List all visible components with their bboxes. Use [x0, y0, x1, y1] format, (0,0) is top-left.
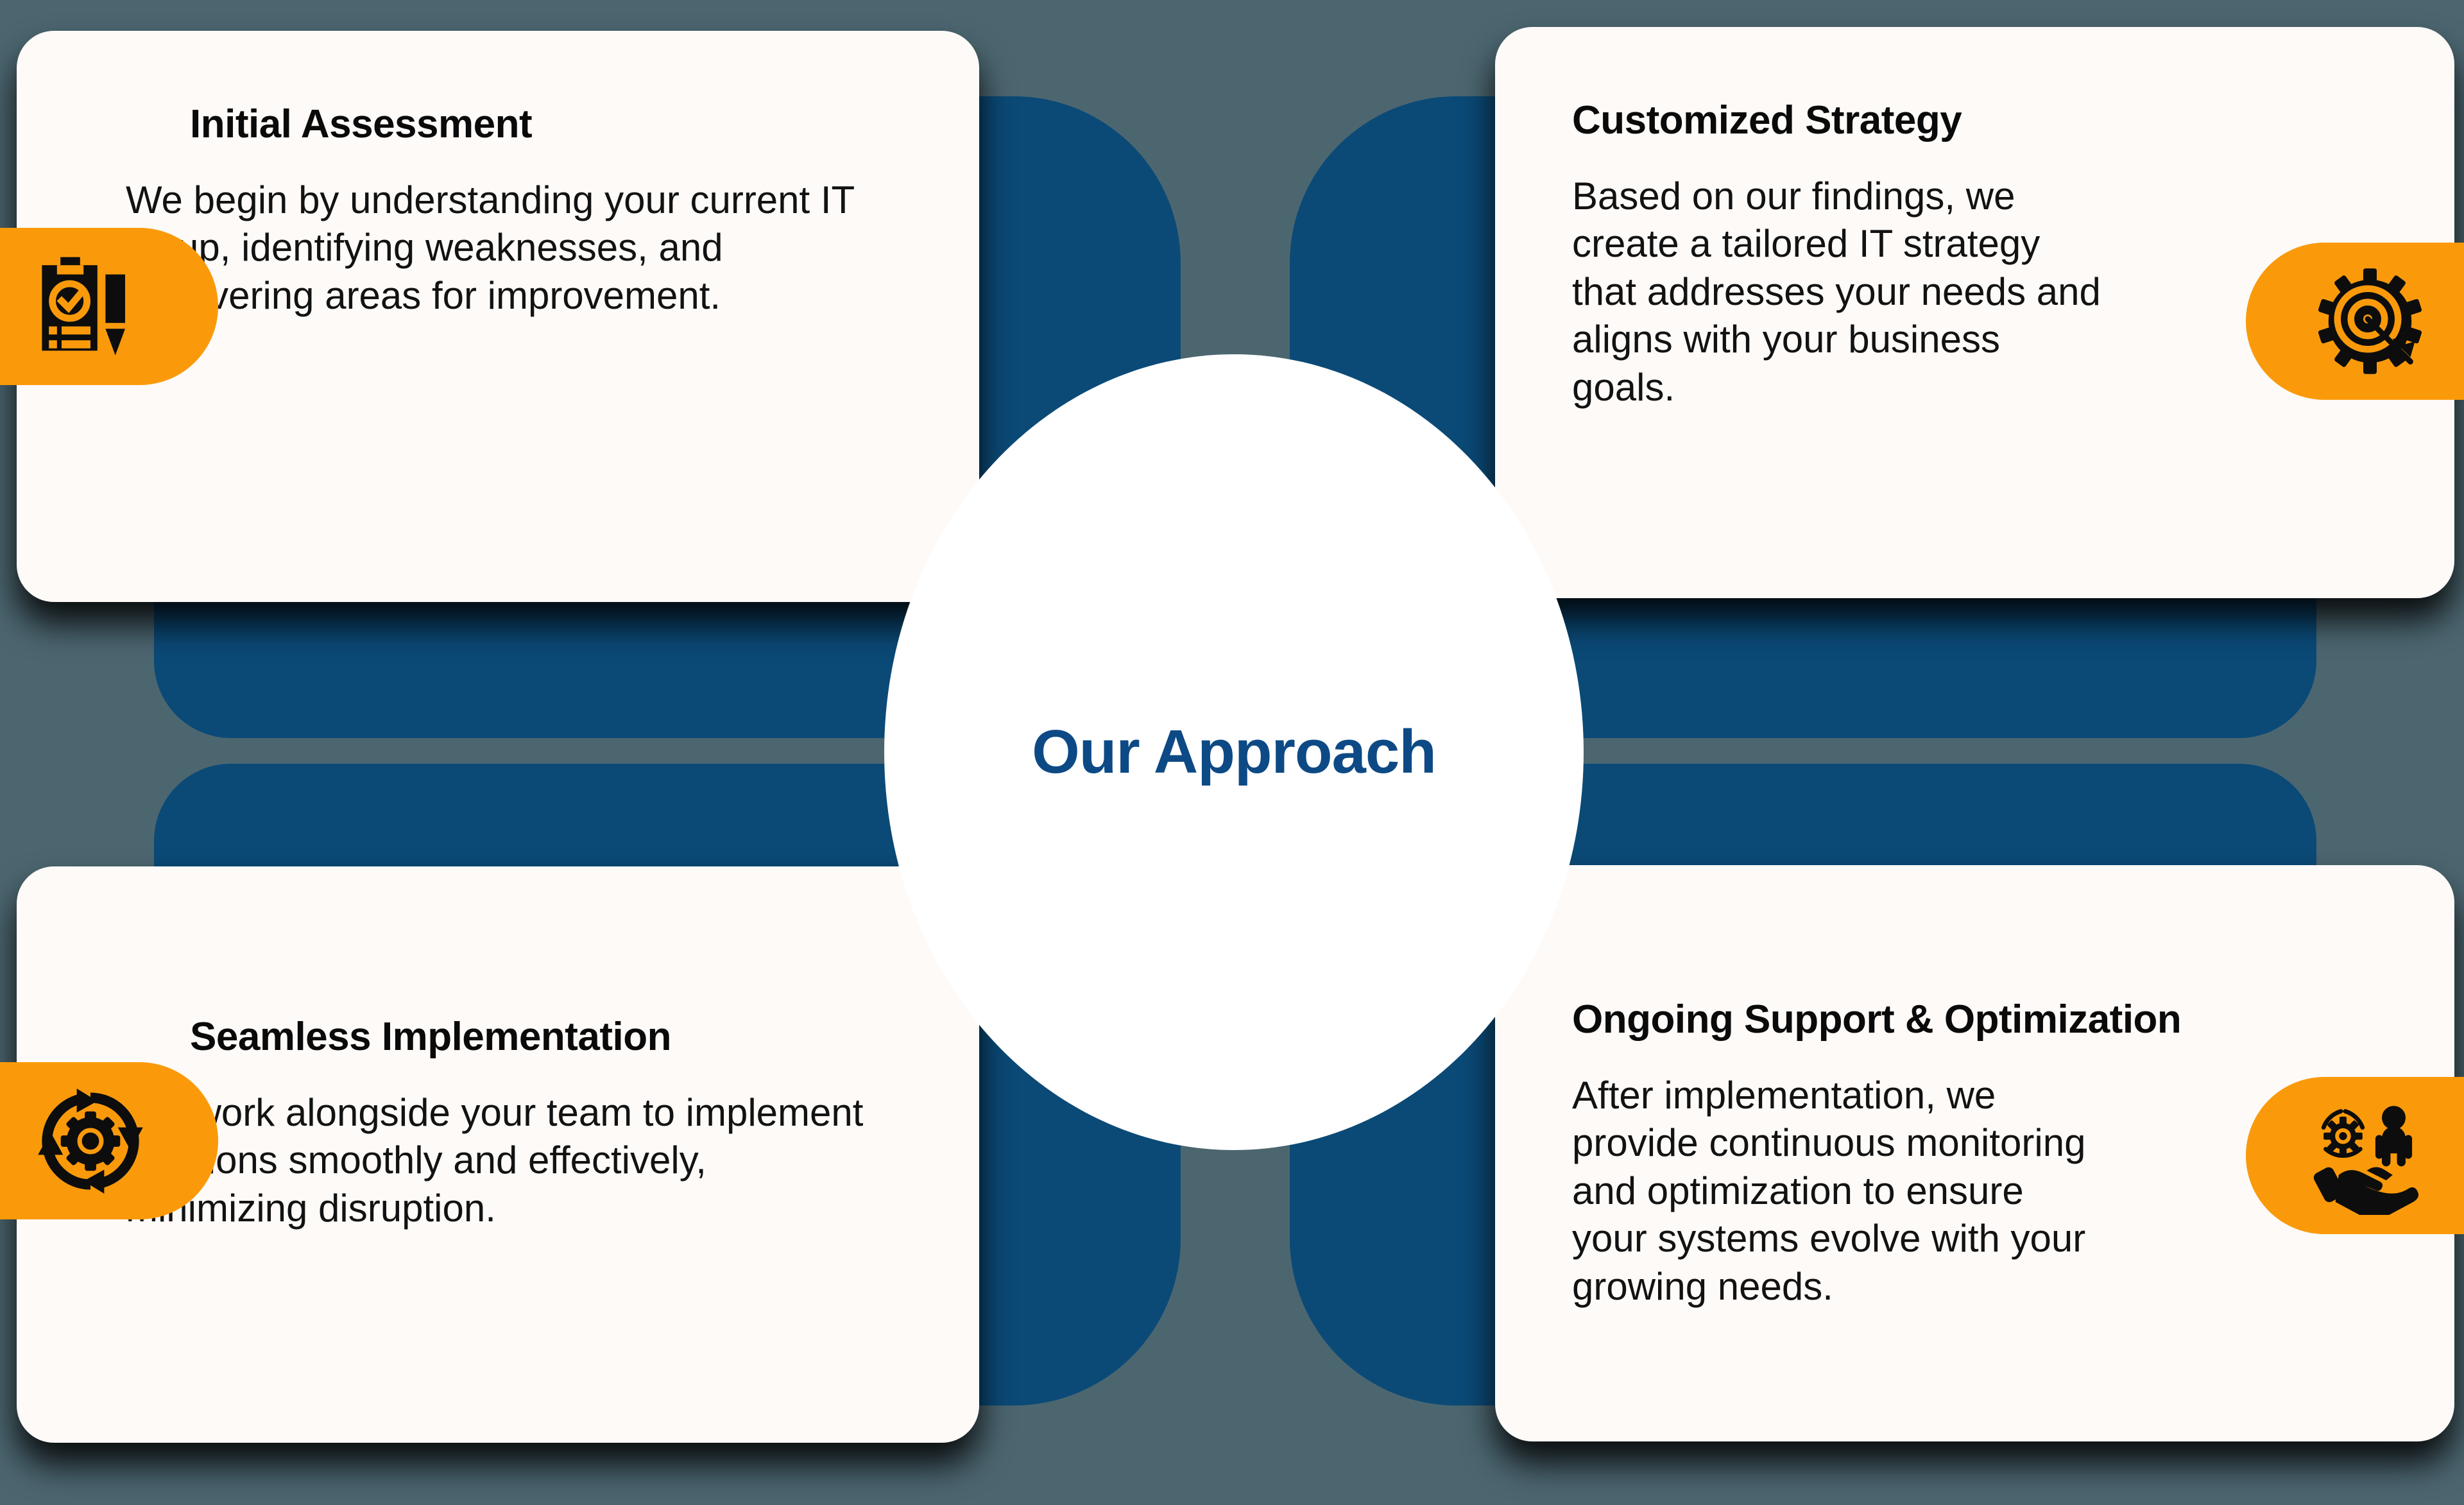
- card-title: Customized Strategy: [1572, 98, 2377, 143]
- infographic-canvas: Our Approach Initial Assessment We begin…: [0, 0, 2464, 1505]
- icon-badge-customized-strategy: [2246, 243, 2464, 400]
- icon-badge-ongoing-support: [2246, 1077, 2464, 1234]
- center-hub: Our Approach: [884, 354, 1584, 1150]
- icon-badge-initial-assessment: [0, 228, 218, 385]
- gear-target-arrow-icon: [2314, 265, 2397, 377]
- card-title: Initial Assessment: [94, 101, 902, 147]
- icon-badge-seamless-implementation: [0, 1062, 218, 1219]
- hand-gear-person-support-icon: [2311, 1096, 2400, 1215]
- cycle-arrows-gear-icon: [71, 1084, 148, 1198]
- clipboard-check-pencil-icon: [70, 249, 148, 365]
- card-title: Seamless Implementation: [94, 1014, 902, 1060]
- center-title: Our Approach: [1032, 717, 1436, 787]
- card-title: Ongoing Support & Optimization: [1572, 997, 2377, 1042]
